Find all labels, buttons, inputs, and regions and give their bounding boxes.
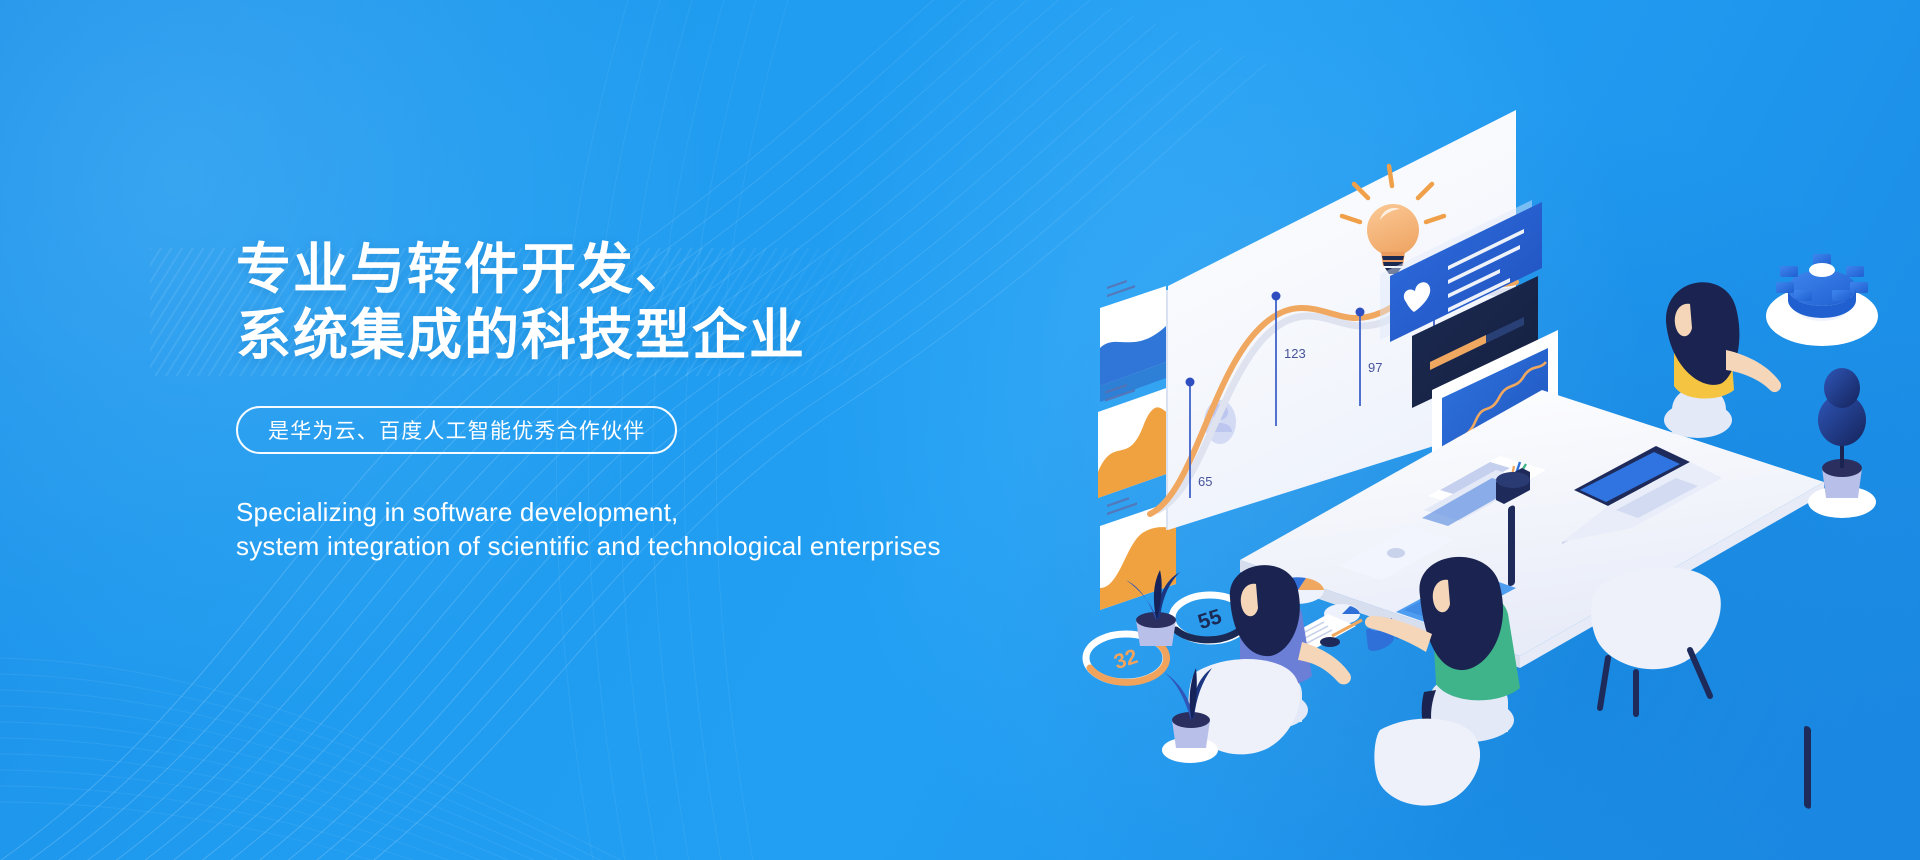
hero-banner: 专业与转件开发、 系统集成的科技型企业 是华为云、百度人工智能优秀合作伙伴 Sp… [0,0,1920,860]
hero-illustration: 65 123 97 81 [1080,90,1920,770]
svg-text:55: 55 [1195,605,1225,634]
chair-right [1591,567,1721,714]
hero-copy: 专业与转件开发、 系统集成的科技型企业 是华为云、百度人工智能优秀合作伙伴 Sp… [236,236,1196,564]
svg-text:97: 97 [1368,360,1382,375]
svg-text:123: 123 [1284,346,1306,361]
subtitle-line-1: Specializing in software development, [236,496,1196,530]
person-yellow-top [1664,282,1781,438]
headline-line-1: 专业与转件开发、 [236,236,1196,302]
hero-subtitle: Specializing in software development, sy… [236,496,1196,564]
partner-badge[interactable]: 是华为云、百度人工智能优秀合作伙伴 [236,406,677,454]
svg-text:65: 65 [1198,474,1212,489]
headline-line-2: 系统集成的科技型企业 [236,302,1196,368]
page-title: 专业与转件开发、 系统集成的科技型企业 [236,236,1196,368]
svg-text:32: 32 [1111,645,1140,674]
subtitle-line-2: system integration of scientific and tec… [236,530,1196,564]
topiary-plant [1808,368,1876,518]
gear-icon [1766,254,1878,346]
